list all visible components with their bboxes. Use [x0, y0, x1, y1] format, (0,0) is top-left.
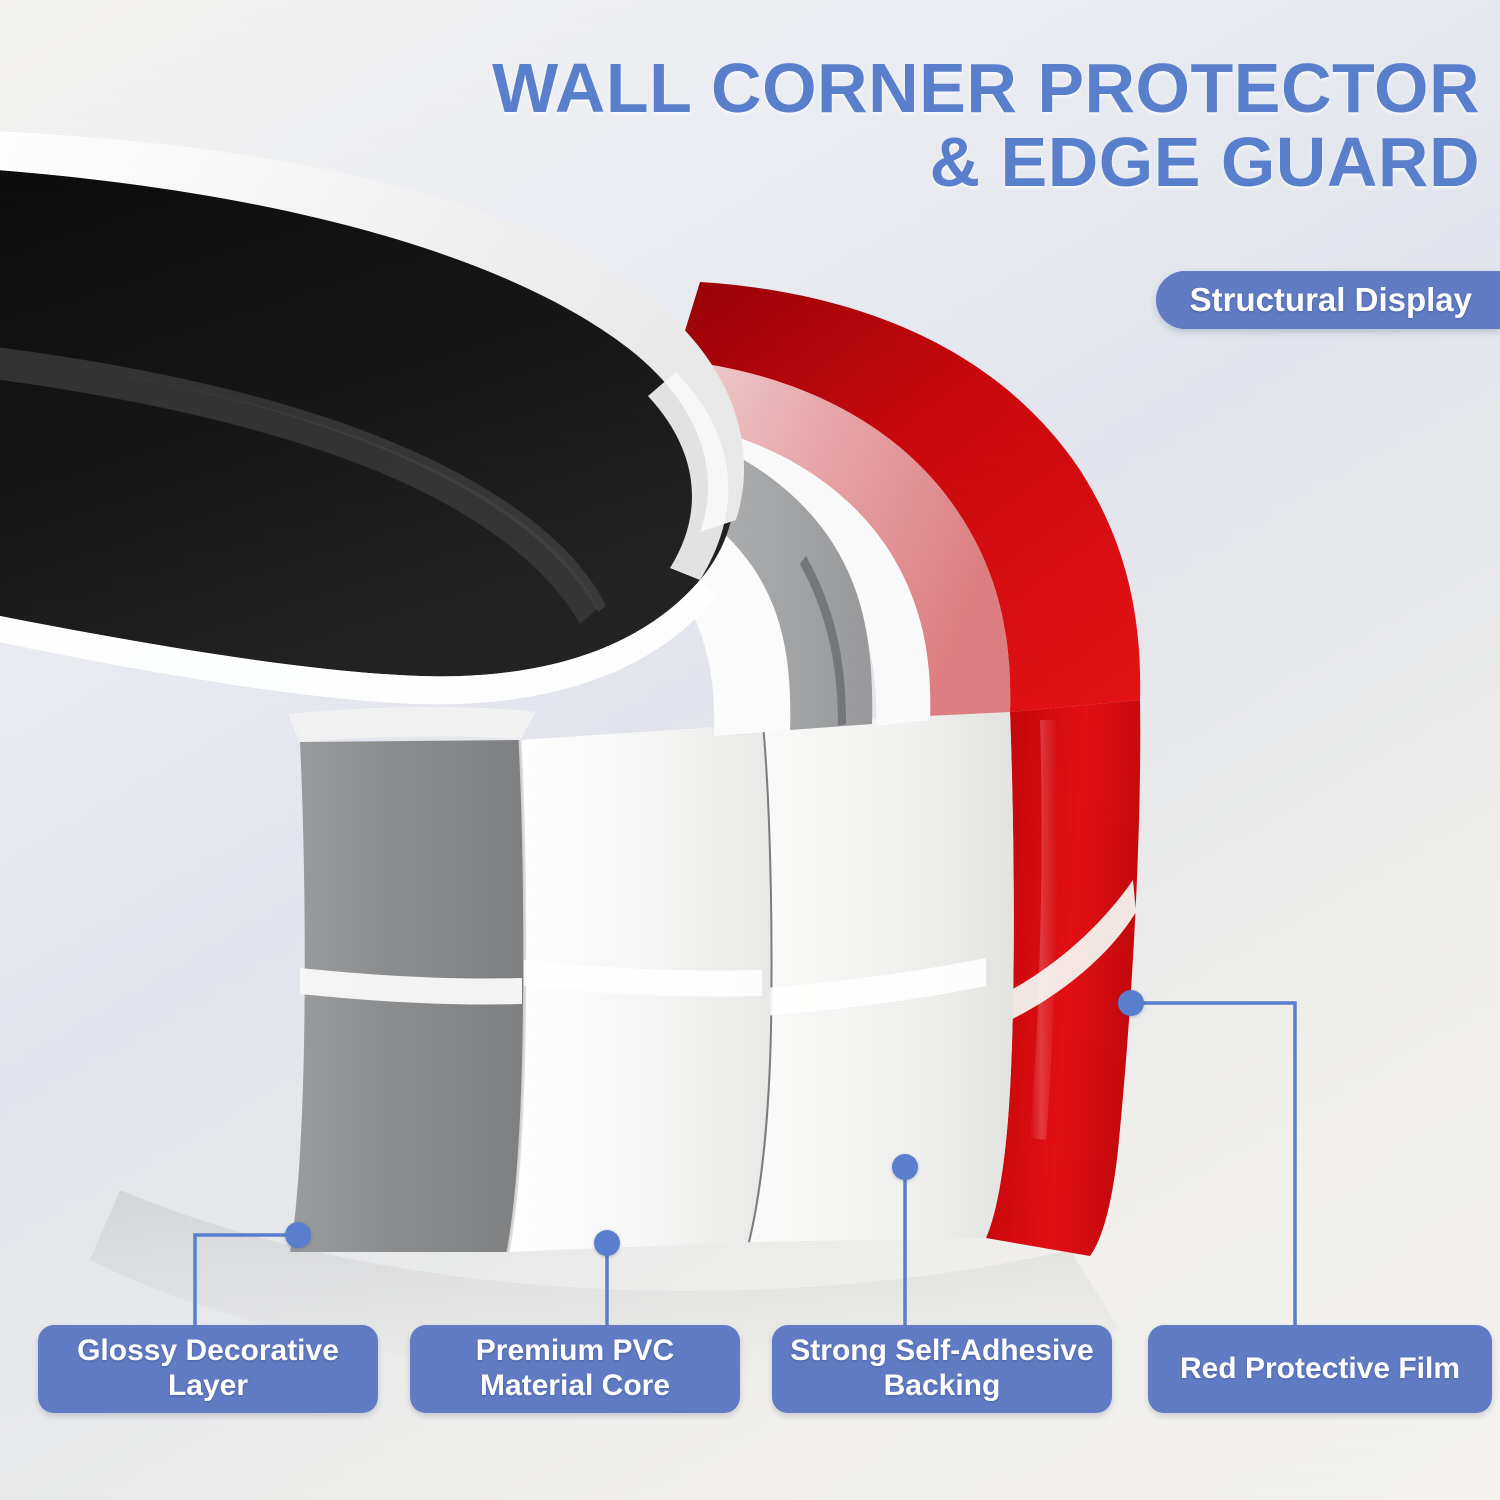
leader-line-redfilm — [1131, 1003, 1295, 1328]
callout-group: Glossy DecorativeLayer Premium PVCMateri… — [0, 0, 1500, 1500]
callout-badge-strong-self-adhesive-backing[interactable]: Strong Self-AdhesiveBacking — [772, 1325, 1112, 1413]
callout-dot-adhesive — [892, 1154, 918, 1180]
leader-line-glossy — [195, 1235, 298, 1328]
infographic-canvas: WALL CORNER PROTECTOR & EDGE GUARD Struc… — [0, 0, 1500, 1500]
callout-dot-pvc — [594, 1230, 620, 1256]
callout-dot-redfilm — [1118, 990, 1144, 1016]
callout-label-glossy-decorative-layer: Glossy DecorativeLayer — [67, 1334, 349, 1404]
callout-label-premium-pvc-material-core: Premium PVCMaterial Core — [466, 1334, 684, 1404]
callout-dot-glossy — [285, 1222, 311, 1248]
callout-badge-glossy-decorative-layer[interactable]: Glossy DecorativeLayer — [38, 1325, 378, 1413]
callout-badge-red-protective-film[interactable]: Red Protective Film — [1148, 1325, 1492, 1413]
callout-label-strong-self-adhesive-backing: Strong Self-AdhesiveBacking — [780, 1334, 1103, 1404]
callout-leader-lines — [0, 0, 1500, 1500]
callout-label-red-protective-film: Red Protective Film — [1170, 1352, 1470, 1387]
callout-badge-premium-pvc-material-core[interactable]: Premium PVCMaterial Core — [410, 1325, 740, 1413]
